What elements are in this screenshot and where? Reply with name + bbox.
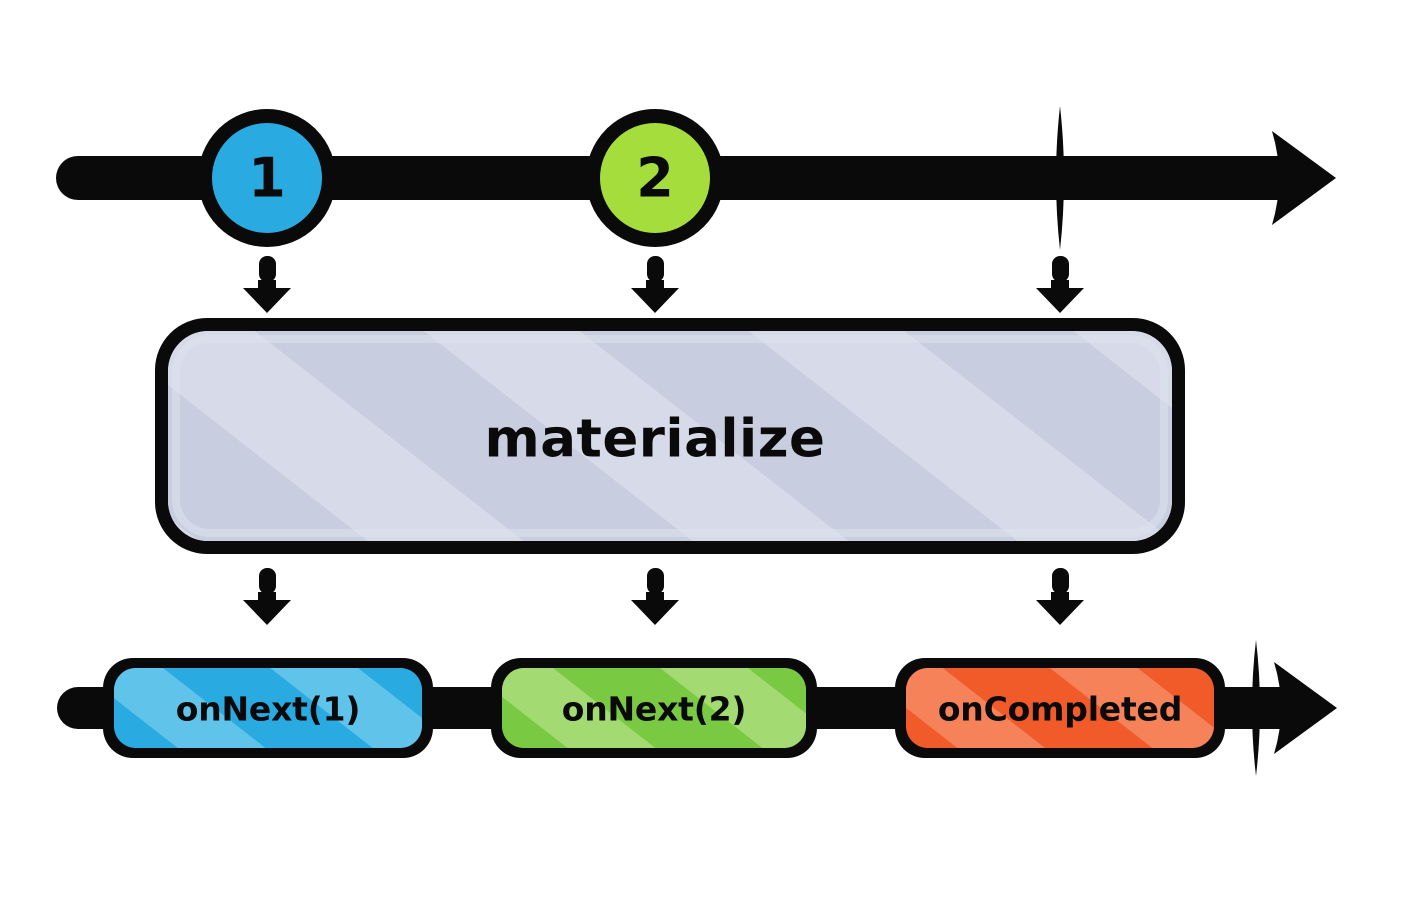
notification-onnext-2-label: onNext(2) [562, 690, 747, 729]
source-marble-2[interactable]: 2 [593, 116, 717, 240]
notification-oncompleted-label: onCompleted [938, 690, 1182, 729]
result-timeline-arrowhead [1274, 662, 1337, 754]
source-completion-tick [1056, 106, 1064, 250]
operator-box[interactable]: materialize [155, 318, 1185, 554]
source-timeline-arrowhead [1272, 131, 1336, 225]
notification-onnext-2[interactable]: onNext(2) [491, 658, 817, 758]
result-completion-tick [1252, 640, 1260, 776]
source-marble-1-label: 1 [248, 147, 286, 210]
connector-arrow-bottom-1 [243, 568, 291, 625]
marble-diagram-canvas: 1 2 materialize [0, 0, 1401, 901]
connector-arrow-bottom-2 [631, 568, 679, 625]
notification-oncompleted[interactable]: onCompleted [895, 658, 1225, 758]
notification-onnext-1-label: onNext(1) [176, 690, 361, 729]
source-marble-1[interactable]: 1 [205, 116, 329, 240]
connector-arrow-bottom-3 [1036, 568, 1084, 625]
marble-diagram-svg: 1 2 materialize [0, 0, 1401, 901]
source-marble-2-label: 2 [636, 147, 674, 210]
connector-arrow-top-1 [243, 256, 291, 313]
operator-label: materialize [485, 409, 826, 470]
connector-arrow-top-3 [1036, 256, 1084, 313]
notification-onnext-1[interactable]: onNext(1) [103, 658, 433, 758]
connector-arrow-top-2 [631, 256, 679, 313]
